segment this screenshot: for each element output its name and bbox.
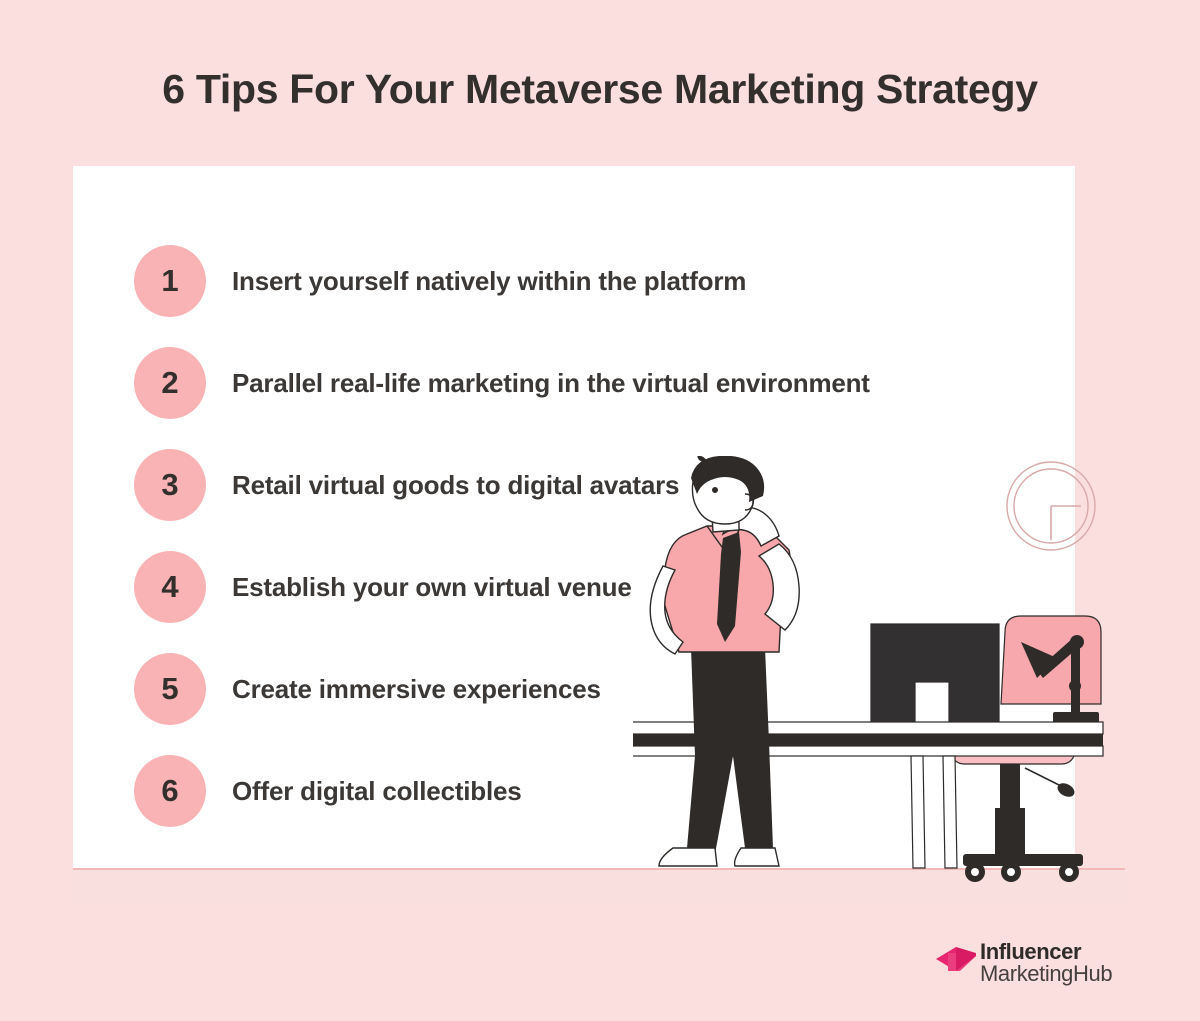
tip-number-badge: 3 [134, 449, 206, 521]
tips-list: 1 Insert yourself natively within the pl… [134, 230, 1034, 842]
page-title: 6 Tips For Your Metaverse Marketing Stra… [0, 66, 1200, 113]
list-item: 3 Retail virtual goods to digital avatar… [134, 434, 1034, 536]
content-card: 1 Insert yourself natively within the pl… [73, 166, 1125, 906]
list-item: 1 Insert yourself natively within the pl… [134, 230, 1034, 332]
tip-number-badge: 2 [134, 347, 206, 419]
list-item: 6 Offer digital collectibles [134, 740, 1034, 842]
left-arrow-mark-icon [936, 944, 978, 982]
list-item: 5 Create immersive experiences [134, 638, 1034, 740]
logo-line-influencer: Influencer [980, 941, 1112, 963]
list-item: 4 Establish your own virtual venue [134, 536, 1034, 638]
tip-label: Create immersive experiences [232, 674, 601, 705]
tip-label: Parallel real-life marketing in the virt… [232, 368, 870, 399]
tip-label: Establish your own virtual venue [232, 572, 632, 603]
list-item: 2 Parallel real-life marketing in the vi… [134, 332, 1034, 434]
logo-wordmark: Influencer MarketingHub [980, 941, 1112, 986]
tip-number-badge: 5 [134, 653, 206, 725]
brand-logo: Influencer MarketingHub [936, 941, 1112, 986]
logo-line-marketinghub: MarketingHub [980, 963, 1112, 985]
tip-number-badge: 6 [134, 755, 206, 827]
tip-label: Insert yourself natively within the plat… [232, 266, 746, 297]
tip-label: Retail virtual goods to digital avatars [232, 470, 679, 501]
tip-number-badge: 4 [134, 551, 206, 623]
tip-number-badge: 1 [134, 245, 206, 317]
tip-label: Offer digital collectibles [232, 776, 522, 807]
